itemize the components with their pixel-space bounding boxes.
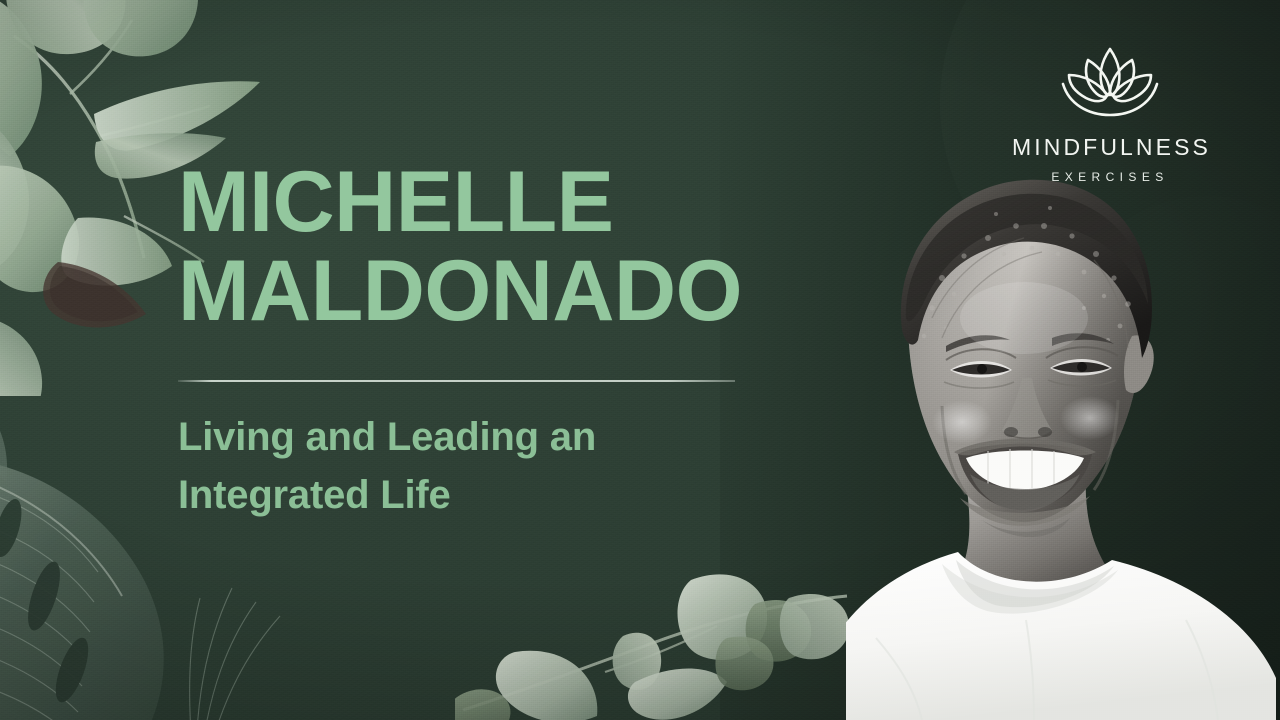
brand-logo: MINDFULNESS EXERCISES xyxy=(1012,42,1208,183)
subtitle-line-2: Integrated Life xyxy=(178,467,818,525)
subtitle: Living and Leading an Integrated Life xyxy=(178,409,818,524)
brand-wordmark: MINDFULNESS xyxy=(1012,136,1208,159)
page-title: MICHELLE MALDONADO xyxy=(178,160,938,334)
brand-subwordmark: EXERCISES xyxy=(1012,171,1208,183)
lotus-icon xyxy=(1055,42,1165,120)
subtitle-line-1: Living and Leading an xyxy=(178,409,818,467)
title-slide: MICHELLE MALDONADO Living and Leading an… xyxy=(0,0,1280,720)
title-line-first: MICHELLE xyxy=(178,160,938,245)
title-divider xyxy=(178,380,735,382)
title-line-last: MALDONADO xyxy=(178,249,938,334)
